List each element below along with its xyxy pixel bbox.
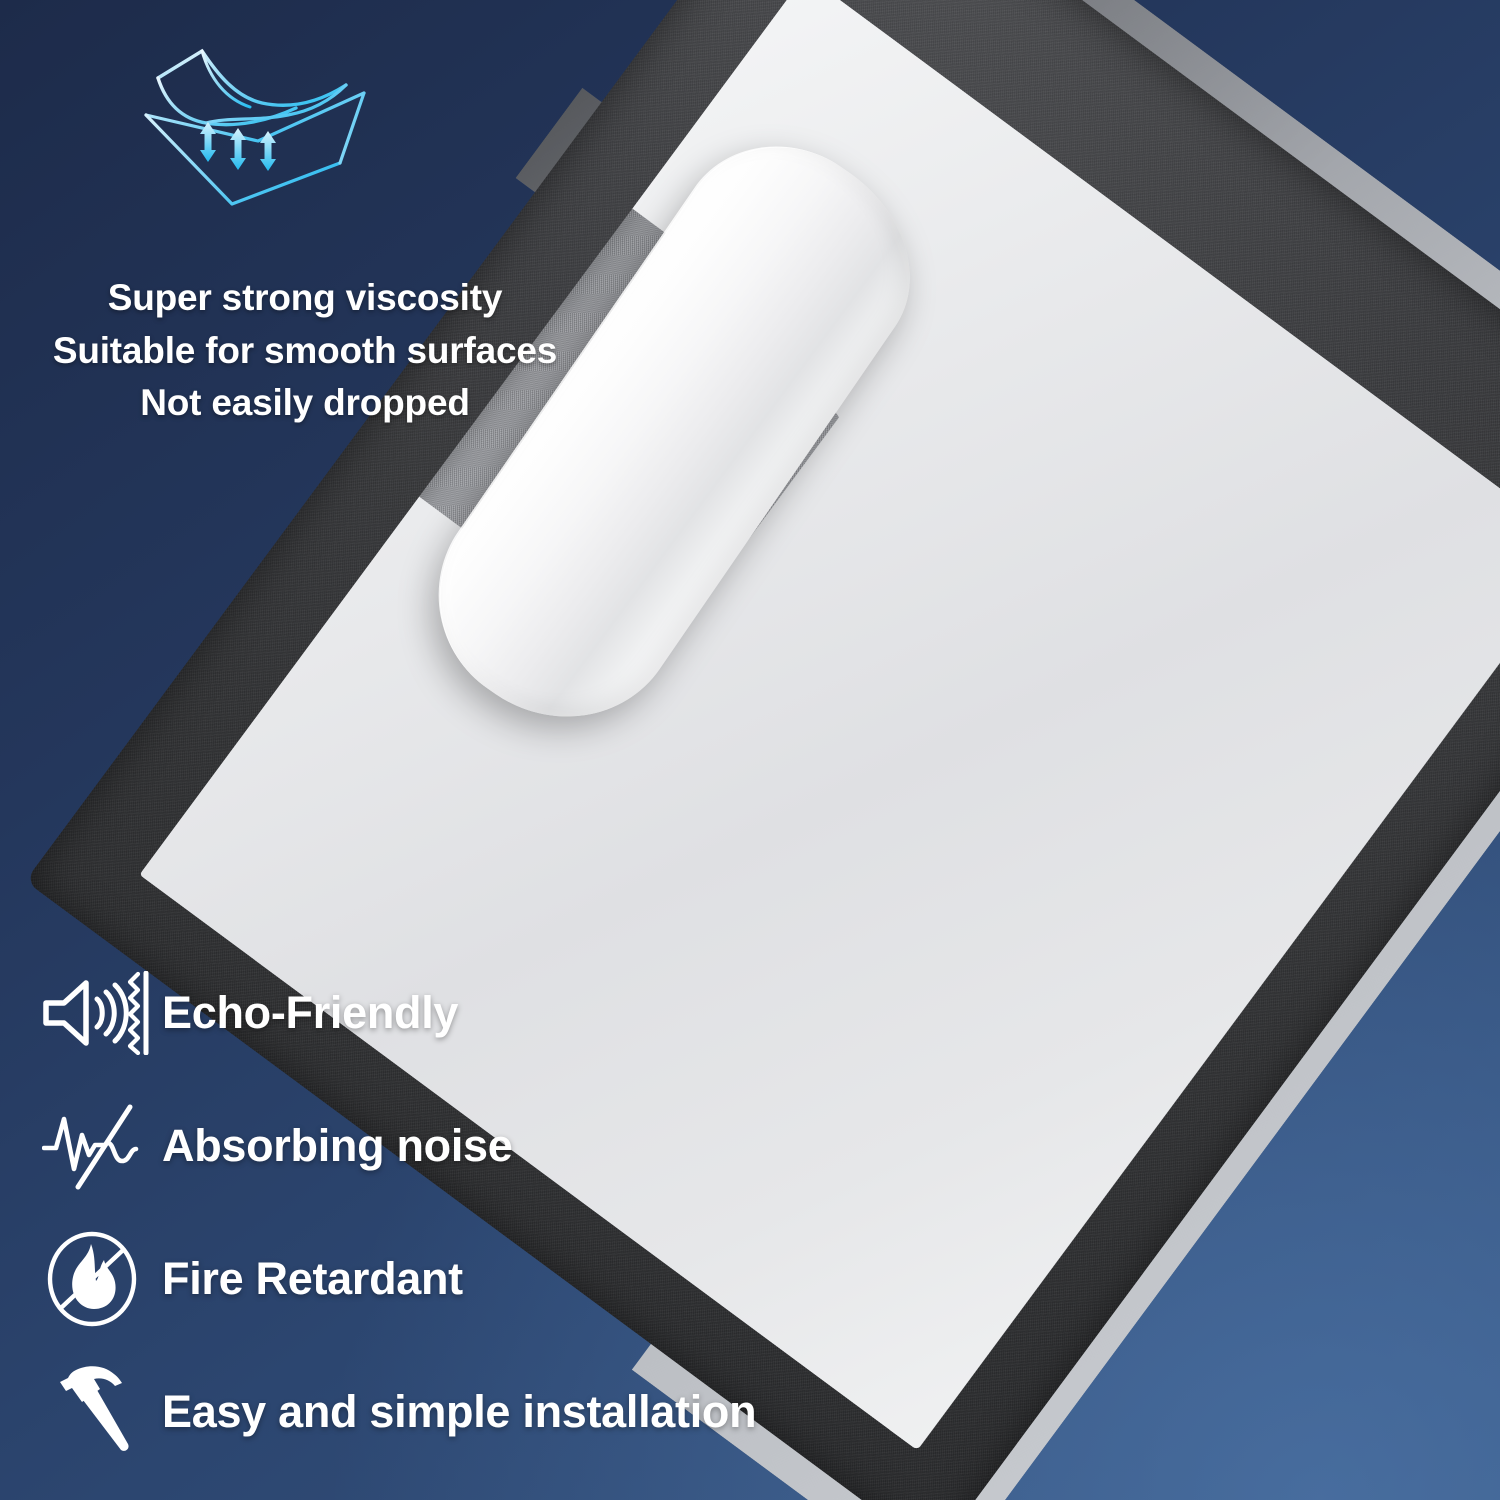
feature-label: Absorbing noise — [162, 1120, 513, 1172]
feature-label: Echo-Friendly — [162, 987, 458, 1039]
feature-item-fire-retardant: Fire Retardant — [42, 1212, 1022, 1345]
headline-line-1: Super strong viscosity — [0, 272, 610, 325]
headline-line-3: Not easily dropped — [0, 377, 610, 430]
headline-line-2: Suitable for smooth surfaces — [0, 325, 610, 378]
feature-item-absorbing-noise: Absorbing noise — [42, 1079, 1022, 1212]
feature-item-easy-installation: Easy and simple installation — [42, 1345, 1022, 1478]
peel-sheet-adhesion-icon — [140, 45, 370, 245]
sound-wave-icon — [42, 1096, 162, 1196]
feature-label: Fire Retardant — [162, 1253, 463, 1305]
feature-list: Echo-Friendly Absorbing noise Fire Retar… — [42, 946, 1022, 1478]
viscosity-headline-block: Super strong viscosity Suitable for smoo… — [0, 272, 610, 430]
hammer-icon — [42, 1362, 162, 1462]
feature-label: Easy and simple installation — [162, 1386, 756, 1438]
feature-item-echo-friendly: Echo-Friendly — [42, 946, 1022, 1079]
no-fire-flame-icon — [42, 1229, 162, 1329]
speaker-echo-icon — [42, 963, 162, 1063]
